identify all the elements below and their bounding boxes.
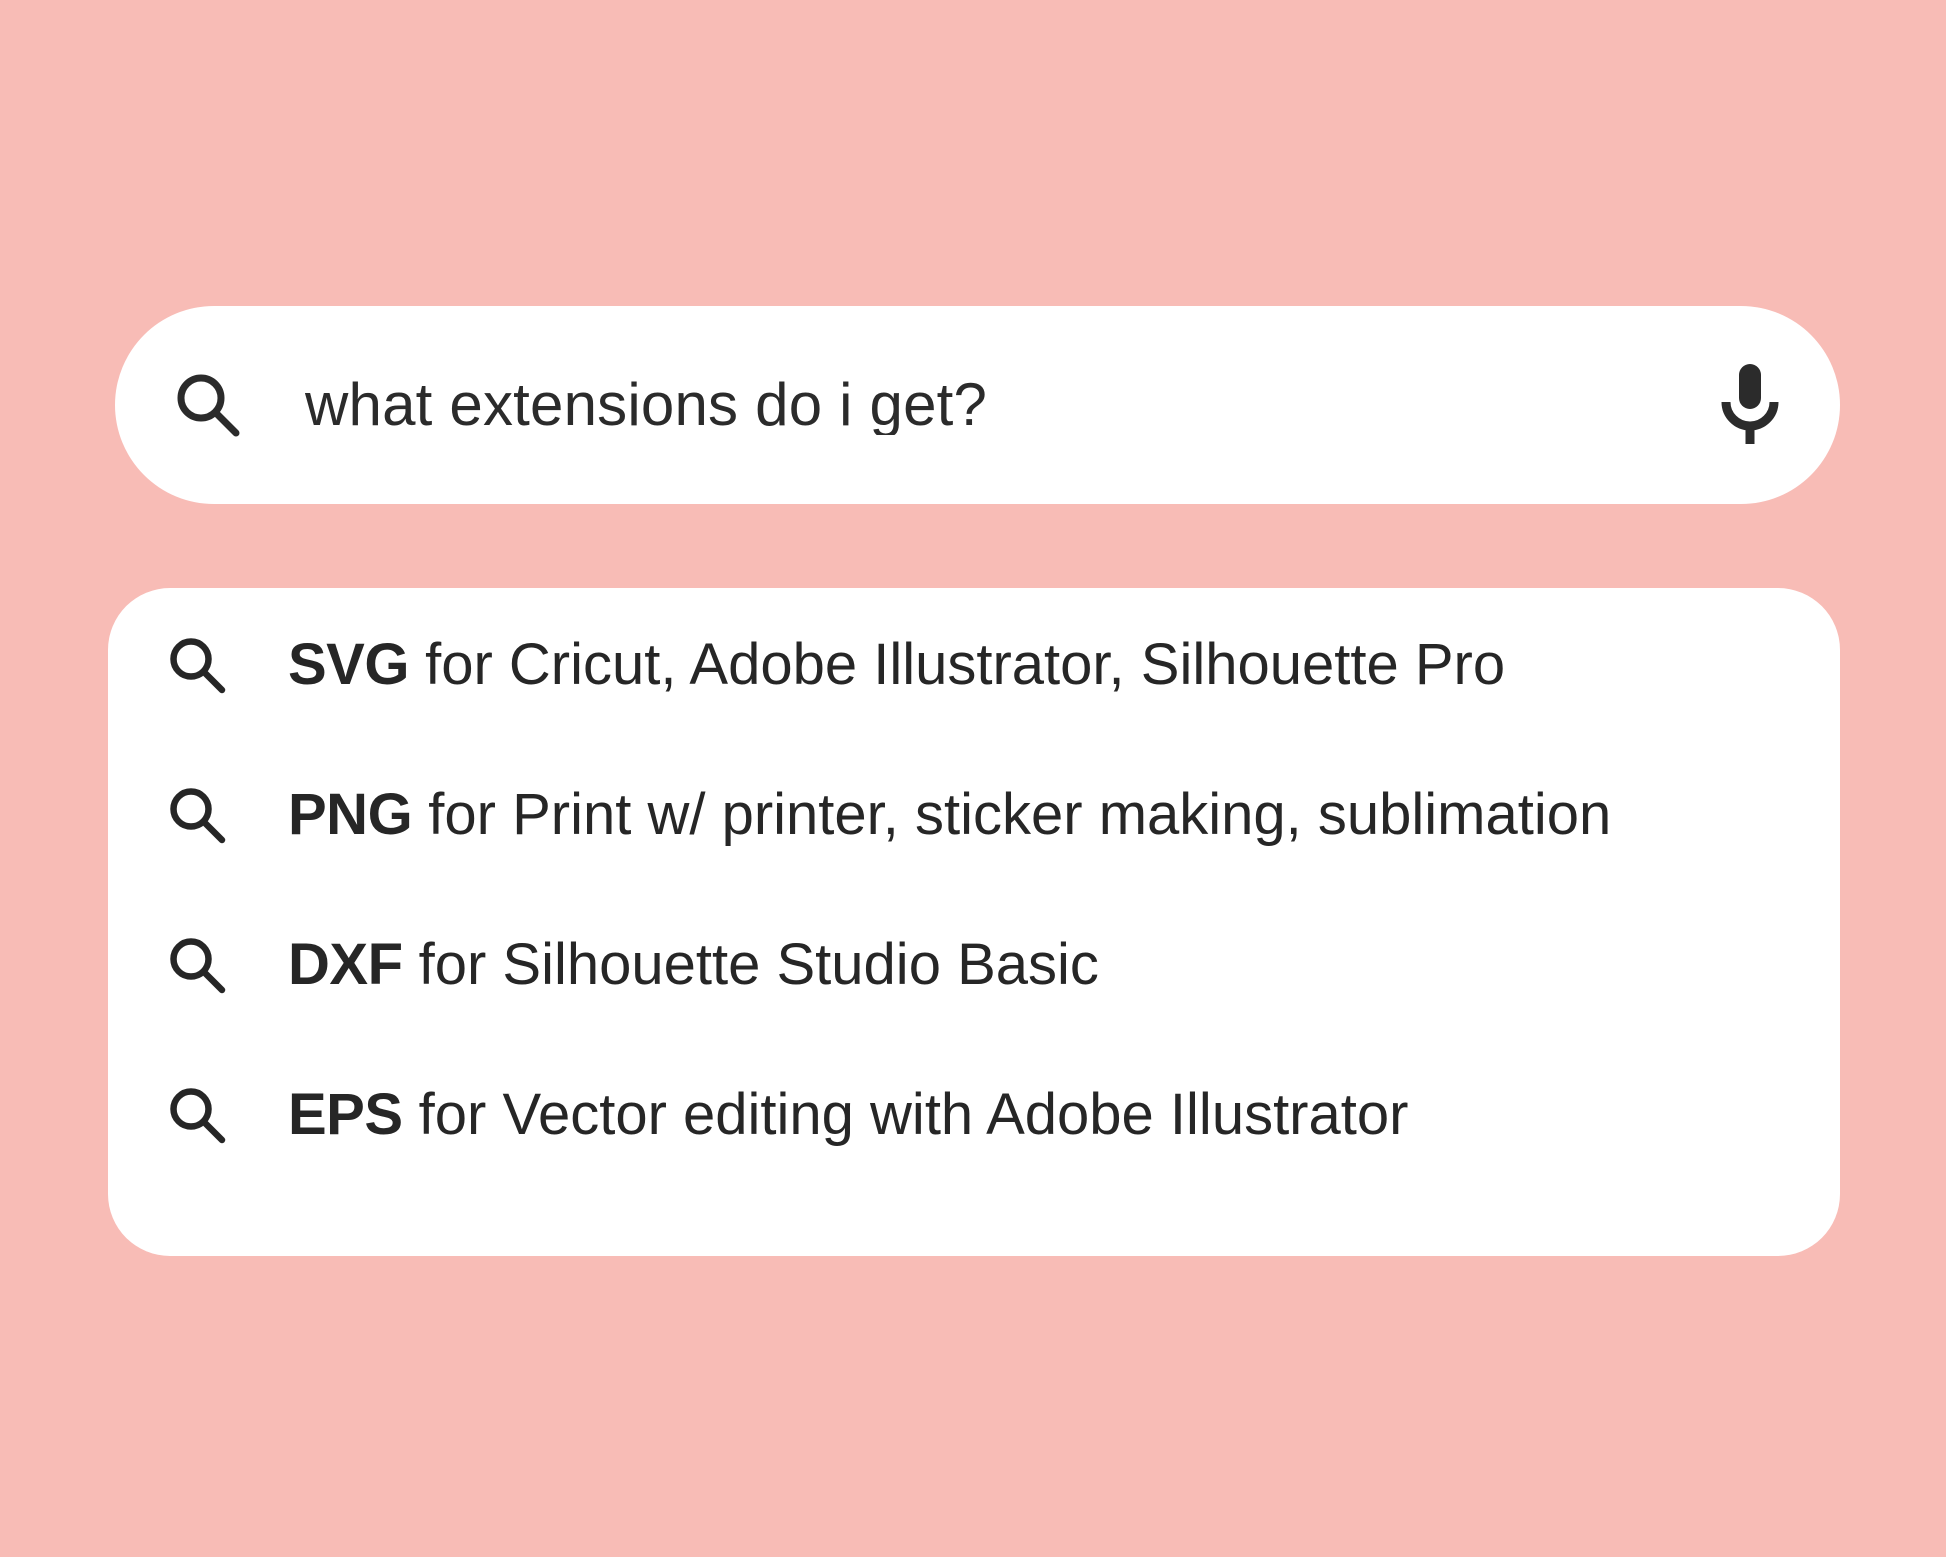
search-bar[interactable]: what extensions do i get?: [115, 306, 1840, 504]
search-input[interactable]: what extensions do i get?: [305, 375, 1694, 435]
page-root: what extensions do i get? SVG for Cricut…: [0, 0, 1946, 1557]
suggestion-format: PNG: [288, 782, 412, 847]
suggestion-label: DXF for Silhouette Studio Basic: [288, 936, 1099, 994]
suggestion-format: DXF: [288, 932, 403, 997]
search-icon: [166, 634, 228, 696]
suggestion-format: EPS: [288, 1082, 403, 1147]
search-icon: [173, 370, 243, 440]
suggestion-description: for Print w/ printer, sticker making, su…: [412, 782, 1611, 847]
suggestion-label: EPS for Vector editing with Adobe Illust…: [288, 1086, 1408, 1144]
suggestion-label: PNG for Print w/ printer, sticker making…: [288, 786, 1611, 844]
search-icon: [166, 934, 228, 996]
suggestion-description: for Vector editing with Adobe Illustrato…: [403, 1082, 1409, 1147]
suggestion-description: for Silhouette Studio Basic: [403, 932, 1099, 997]
suggestions-card: SVG for Cricut, Adobe Illustrator, Silho…: [108, 588, 1840, 1256]
suggestion-label: SVG for Cricut, Adobe Illustrator, Silho…: [288, 636, 1505, 694]
suggestion-row-eps[interactable]: EPS for Vector editing with Adobe Illust…: [166, 1077, 1800, 1153]
suggestion-row-svg[interactable]: SVG for Cricut, Adobe Illustrator, Silho…: [166, 627, 1800, 703]
search-icon: [166, 784, 228, 846]
search-icon: [166, 1084, 228, 1146]
suggestion-row-dxf[interactable]: DXF for Silhouette Studio Basic: [166, 927, 1800, 1003]
suggestion-row-png[interactable]: PNG for Print w/ printer, sticker making…: [166, 777, 1800, 853]
suggestion-format: SVG: [288, 632, 409, 697]
suggestion-description: for Cricut, Adobe Illustrator, Silhouett…: [409, 632, 1505, 697]
microphone-icon[interactable]: [1718, 362, 1782, 448]
